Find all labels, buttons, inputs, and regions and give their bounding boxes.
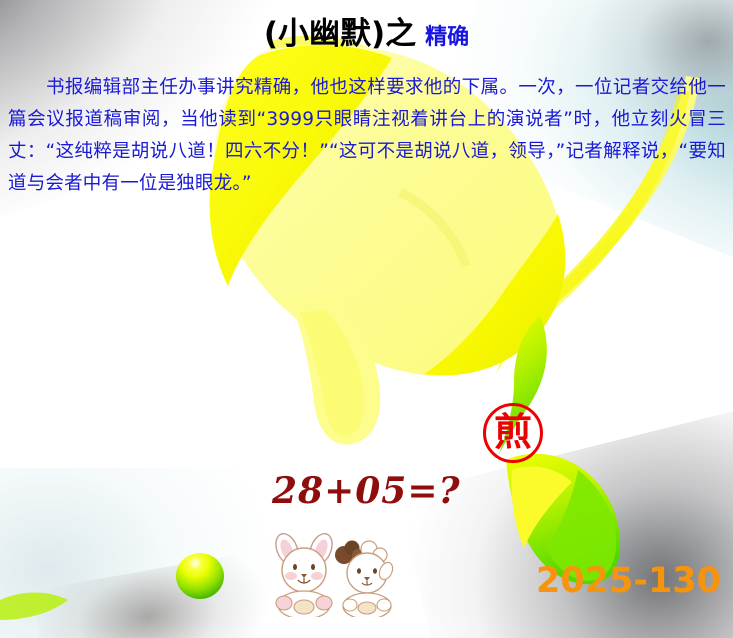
bunny-left-icon (272, 533, 337, 617)
art-body-right-wedge (424, 214, 565, 375)
art-watermark-stroke (400, 192, 466, 266)
bunny-figures-svg (268, 533, 394, 617)
art-lower-blade-yellow (512, 466, 573, 548)
story-paragraph: 书报编辑部主任办事讲究精确，他也这样要求他的下属。一次，一位记者交给他一篇会议报… (8, 72, 726, 200)
poster-canvas: (小幽默)之精确 书报编辑部主任办事讲究精确，他也这样要求他的下属。一次，一位记… (0, 0, 733, 638)
title-sub-text: 精确 (425, 25, 469, 50)
bunny-figures (268, 533, 394, 617)
title-main-text: (小幽默)之 (264, 16, 416, 52)
page-title: (小幽默)之精确 (0, 8, 733, 53)
issue-date-badge: 2025-130 (536, 561, 721, 601)
corner-wash-bottom-right (396, 391, 733, 638)
art-droplet-core (300, 310, 364, 436)
corner-wash-bottom-left (0, 468, 280, 638)
bunny-right-icon (335, 541, 394, 618)
seal-character: 煎 (494, 413, 532, 451)
art-droplet-tail (290, 298, 380, 445)
corner-wash-bottom-left-gray (31, 551, 278, 638)
red-seal-stamp: 煎 (483, 403, 543, 463)
green-yellow-glossy-sphere-icon (176, 553, 224, 599)
math-equation: 28+05=? (272, 470, 461, 512)
art-bottom-left-sliver (0, 593, 68, 621)
